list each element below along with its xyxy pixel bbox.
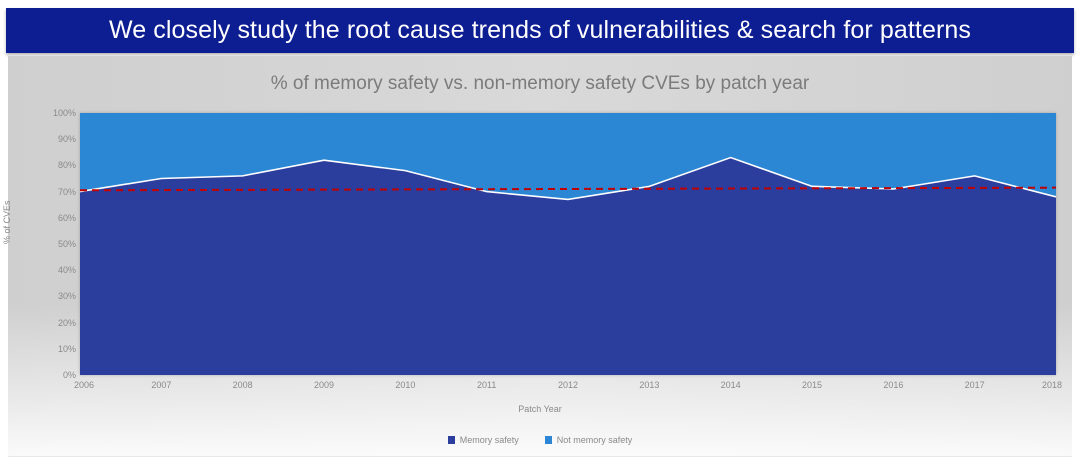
y-axis-tick: 30% — [58, 291, 76, 301]
y-axis-tick: 0% — [63, 370, 76, 380]
slide: We closely study the root cause trends o… — [0, 0, 1080, 467]
legend-item[interactable]: Not memory safety — [545, 435, 633, 445]
x-axis-label: Patch Year — [8, 404, 1072, 414]
legend-swatch-icon — [448, 436, 455, 444]
y-axis-tick: 40% — [58, 265, 76, 275]
slide-title-banner: We closely study the root cause trends o… — [6, 8, 1074, 53]
y-axis-tick: 10% — [58, 344, 76, 354]
legend-label: Memory safety — [460, 435, 519, 445]
x-axis-tick: 2011 — [477, 380, 496, 390]
y-axis-tick: 100% — [53, 108, 76, 118]
x-axis-tick: 2013 — [639, 380, 659, 390]
x-axis-tick: 2007 — [151, 380, 171, 390]
y-axis-label: % of CVEs — [2, 200, 12, 244]
y-axis-ticks: 0%10%20%30%40%50%60%70%80%90%100% — [28, 113, 76, 375]
legend-label: Not memory safety — [557, 435, 633, 445]
x-axis-tick: 2016 — [883, 380, 903, 390]
x-axis-tick: 2010 — [395, 380, 415, 390]
y-axis-tick: 90% — [58, 134, 76, 144]
y-axis-tick: 60% — [58, 213, 76, 223]
x-axis-tick: 2012 — [558, 380, 578, 390]
x-axis-tick: 2018 — [1042, 380, 1062, 390]
y-axis-tick: 50% — [58, 239, 76, 249]
area-chart-svg — [80, 113, 1056, 375]
x-axis-tick: 2006 — [74, 380, 94, 390]
x-axis-tick: 2015 — [802, 380, 822, 390]
legend-item[interactable]: Memory safety — [448, 435, 519, 445]
chart-legend: Memory safetyNot memory safety — [8, 435, 1072, 445]
x-axis-tick: 2009 — [314, 380, 334, 390]
y-axis-tick: 70% — [58, 187, 76, 197]
x-axis-tick: 2014 — [721, 380, 741, 390]
x-axis-tick: 2017 — [965, 380, 985, 390]
legend-swatch-icon — [545, 436, 552, 444]
y-axis-tick: 80% — [58, 160, 76, 170]
y-axis-tick: 20% — [58, 318, 76, 328]
chart-panel: % of memory safety vs. non-memory safety… — [8, 56, 1072, 457]
x-axis-ticks: 2006200720082009201020112012201320142015… — [80, 380, 1056, 394]
x-axis-tick: 2008 — [233, 380, 253, 390]
plot-area — [80, 113, 1056, 375]
page-title: We closely study the root cause trends o… — [109, 16, 971, 45]
chart-title: % of memory safety vs. non-memory safety… — [8, 73, 1072, 95]
